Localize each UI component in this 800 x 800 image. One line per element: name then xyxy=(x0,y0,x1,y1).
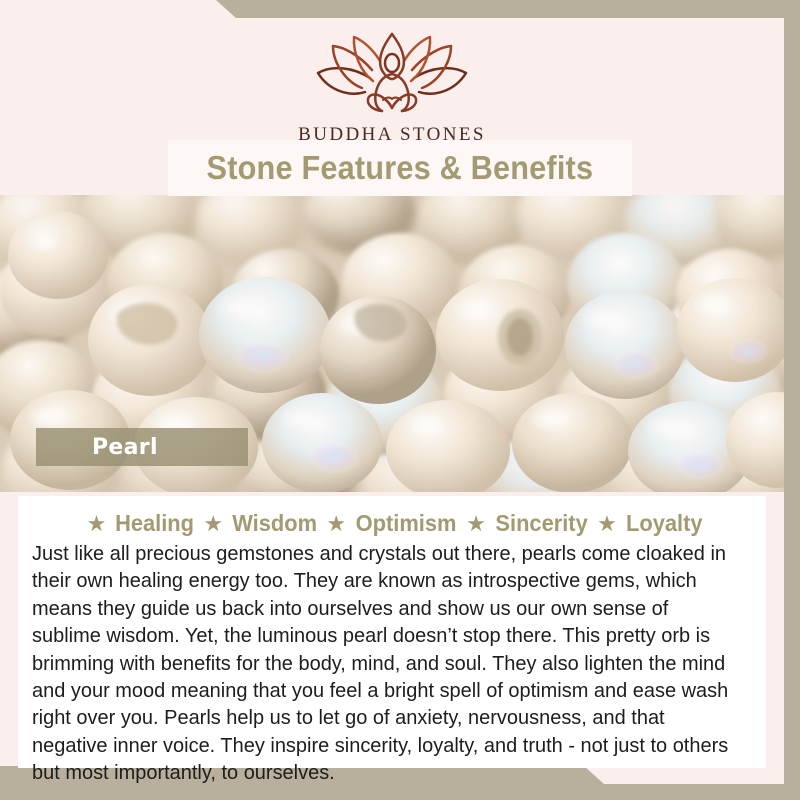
content-panel: ★ Healing ★ Wisdom ★ Optimism ★ Sincerit… xyxy=(18,496,766,768)
star-icon: ★ xyxy=(87,513,107,535)
list-item: ★ Optimism xyxy=(319,510,459,537)
description-paragraph: Just like all precious gemstones and cry… xyxy=(32,541,741,788)
keyword-label: Healing xyxy=(115,510,194,537)
list-item: ★ Healing xyxy=(80,510,197,537)
keyword-label: Optimism xyxy=(356,510,457,537)
star-icon: ★ xyxy=(203,513,223,535)
star-icon: ★ xyxy=(326,513,346,535)
star-icon: ★ xyxy=(466,513,486,535)
pearl-photo: Pearl xyxy=(0,195,784,492)
lotus-meditation-icon xyxy=(307,30,477,118)
title-banner: Stone Features & Benefits xyxy=(168,140,632,196)
star-icon: ★ xyxy=(597,513,617,535)
stone-name-bar: Pearl xyxy=(36,428,248,466)
list-item: ★ Loyalty xyxy=(590,510,704,537)
keyword-label: Wisdom xyxy=(232,510,317,537)
list-item: ★ Wisdom xyxy=(196,510,319,537)
keyword-label: Sincerity xyxy=(495,510,587,537)
stone-name: Pearl xyxy=(92,435,158,460)
poster-root: BUDDHA STONES Stone Features & Benefits xyxy=(0,0,800,800)
keyword-list: ★ Healing ★ Wisdom ★ Optimism ★ Sincerit… xyxy=(32,510,752,537)
page-title: Stone Features & Benefits xyxy=(207,149,594,187)
list-item: ★ Sincerity xyxy=(459,510,590,537)
keyword-label: Loyalty xyxy=(626,510,703,537)
